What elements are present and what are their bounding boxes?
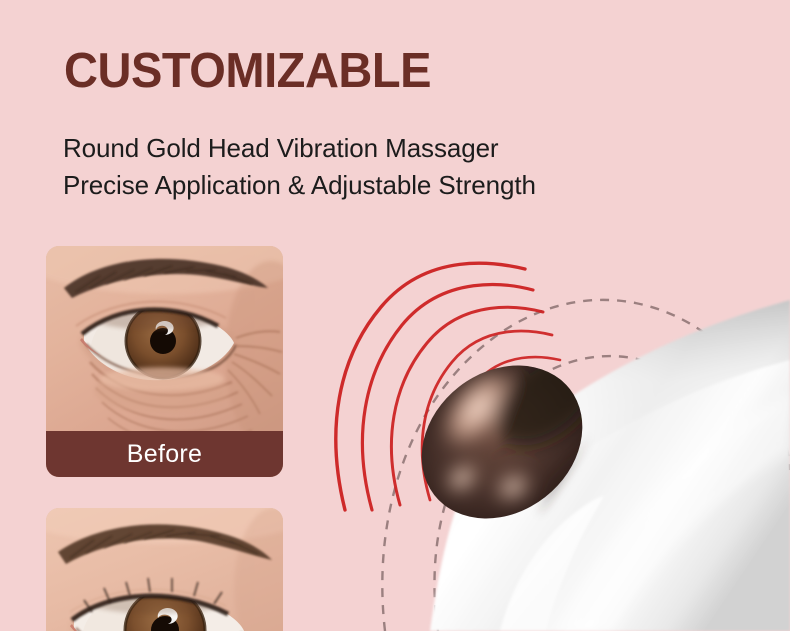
subtitle-line-2: Precise Application & Adjustable Strengt… (63, 172, 536, 198)
page-title: CUSTOMIZABLE (64, 47, 431, 96)
before-label-band: Before (46, 431, 283, 477)
after-photo-card[interactable] (46, 508, 283, 631)
after-eye-photo (46, 508, 283, 631)
before-photo-card[interactable]: Before (46, 246, 283, 477)
subtitle-line-1: Round Gold Head Vibration Massager (63, 135, 499, 161)
before-label: Before (127, 440, 202, 469)
product-banner: CUSTOMIZABLE Round Gold Head Vibration M… (0, 0, 790, 631)
